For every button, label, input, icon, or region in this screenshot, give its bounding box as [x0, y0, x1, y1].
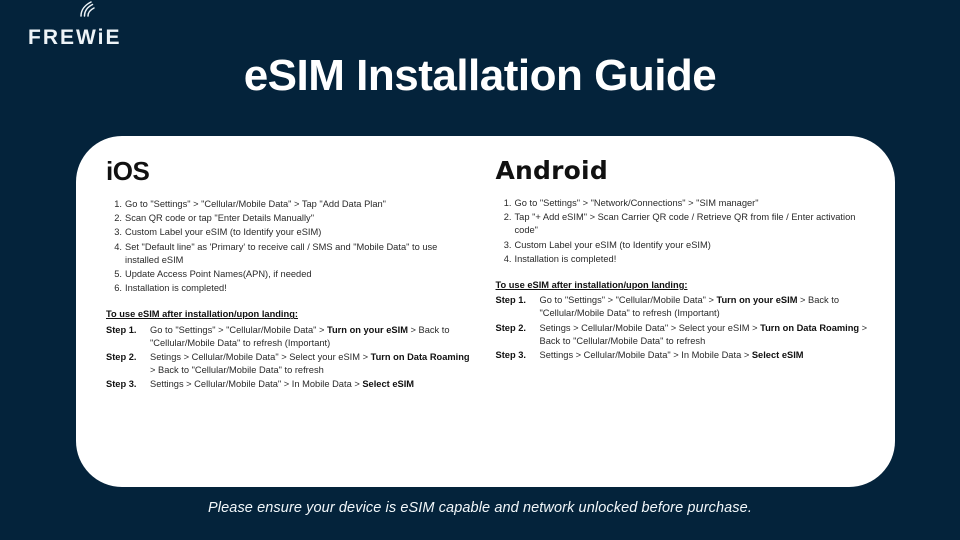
- usage-step-emphasis: Select eSIM: [362, 379, 414, 389]
- usage-step-label: Step 3.: [496, 349, 526, 362]
- list-item: Tap "+ Add eSIM" > Scan Carrier QR code …: [496, 211, 872, 237]
- list-item: Custom Label your eSIM (to Identify your…: [106, 226, 474, 239]
- android-usage-steps: Step 1.Go to "Settings" > "Cellular/Mobi…: [496, 294, 872, 362]
- usage-step-text: Go to "Settings" > "Cellular/Mobile Data…: [150, 325, 327, 335]
- usage-step: Step 1.Go to "Settings" > "Cellular/Mobi…: [106, 324, 474, 350]
- usage-step: Step 3.Settings > Cellular/Mobile Data" …: [496, 349, 872, 362]
- usage-step-label: Step 2.: [106, 351, 136, 364]
- usage-step: Step 1.Go to "Settings" > "Cellular/Mobi…: [496, 294, 872, 320]
- footer-note: Please ensure your device is eSIM capabl…: [0, 500, 960, 516]
- list-item: Go to "Settings" > "Network/Connections"…: [496, 197, 872, 210]
- usage-step-emphasis: Select eSIM: [752, 350, 804, 360]
- usage-step: Step 3.Settings > Cellular/Mobile Data" …: [106, 378, 474, 391]
- instructions-card: iOS Go to "Settings" > "Cellular/Mobile …: [76, 136, 895, 487]
- ios-usage-title: To use eSIM after installation/upon land…: [106, 308, 474, 321]
- usage-step-label: Step 1.: [106, 324, 136, 337]
- android-heading: Android: [496, 158, 872, 183]
- usage-step-label: Step 3.: [106, 378, 136, 391]
- list-item: Go to "Settings" > "Cellular/Mobile Data…: [106, 198, 474, 211]
- brand-logo: FREWiE: [28, 14, 121, 48]
- usage-step-text: > Back to "Cellular/Mobile Data" to refr…: [150, 365, 324, 375]
- usage-step-emphasis: Turn on your eSIM: [327, 325, 408, 335]
- usage-step-label: Step 1.: [496, 294, 526, 307]
- usage-step: Step 2.Setings > Cellular/Mobile Data" >…: [106, 351, 474, 377]
- ios-heading: iOS: [106, 158, 474, 184]
- usage-step-emphasis: Turn on Data Roaming: [760, 323, 859, 333]
- android-step-list: Go to "Settings" > "Network/Connections"…: [496, 197, 872, 266]
- android-usage-title: To use eSIM after installation/upon land…: [496, 279, 872, 292]
- android-usage-section: To use eSIM after installation/upon land…: [496, 279, 872, 362]
- list-item: Installation is completed!: [496, 253, 872, 266]
- usage-step-text: Setings > Cellular/Mobile Data" > Select…: [540, 323, 761, 333]
- usage-step-text: Go to "Settings" > "Cellular/Mobile Data…: [540, 295, 717, 305]
- list-item: Scan QR code or tap "Enter Details Manua…: [106, 212, 474, 225]
- usage-step-emphasis: Turn on your eSIM: [717, 295, 798, 305]
- usage-step-text: Settings > Cellular/Mobile Data" > In Mo…: [150, 379, 362, 389]
- usage-step-text: Settings > Cellular/Mobile Data" > In Mo…: [540, 350, 752, 360]
- list-item: Custom Label your eSIM (to Identify your…: [496, 239, 872, 252]
- usage-step-label: Step 2.: [496, 322, 526, 335]
- page-title: eSIM Installation Guide: [0, 52, 960, 100]
- brand-logo-text: FREWiE: [28, 27, 121, 48]
- list-item: Update Access Point Names(APN), if neede…: [106, 268, 474, 281]
- wifi-signal-icon: [78, 1, 100, 17]
- ios-column: iOS Go to "Settings" > "Cellular/Mobile …: [106, 158, 484, 477]
- usage-step-text: Setings > Cellular/Mobile Data" > Select…: [150, 352, 371, 362]
- list-item: Installation is completed!: [106, 282, 474, 295]
- android-column: Android Go to "Settings" > "Network/Conn…: [484, 158, 872, 477]
- ios-usage-section: To use eSIM after installation/upon land…: [106, 308, 474, 391]
- ios-usage-steps: Step 1.Go to "Settings" > "Cellular/Mobi…: [106, 324, 474, 392]
- usage-step-emphasis: Turn on Data Roaming: [371, 352, 470, 362]
- ios-step-list: Go to "Settings" > "Cellular/Mobile Data…: [106, 198, 474, 295]
- list-item: Set "Default line" as 'Primary' to recei…: [106, 241, 474, 267]
- usage-step: Step 2.Setings > Cellular/Mobile Data" >…: [496, 322, 872, 348]
